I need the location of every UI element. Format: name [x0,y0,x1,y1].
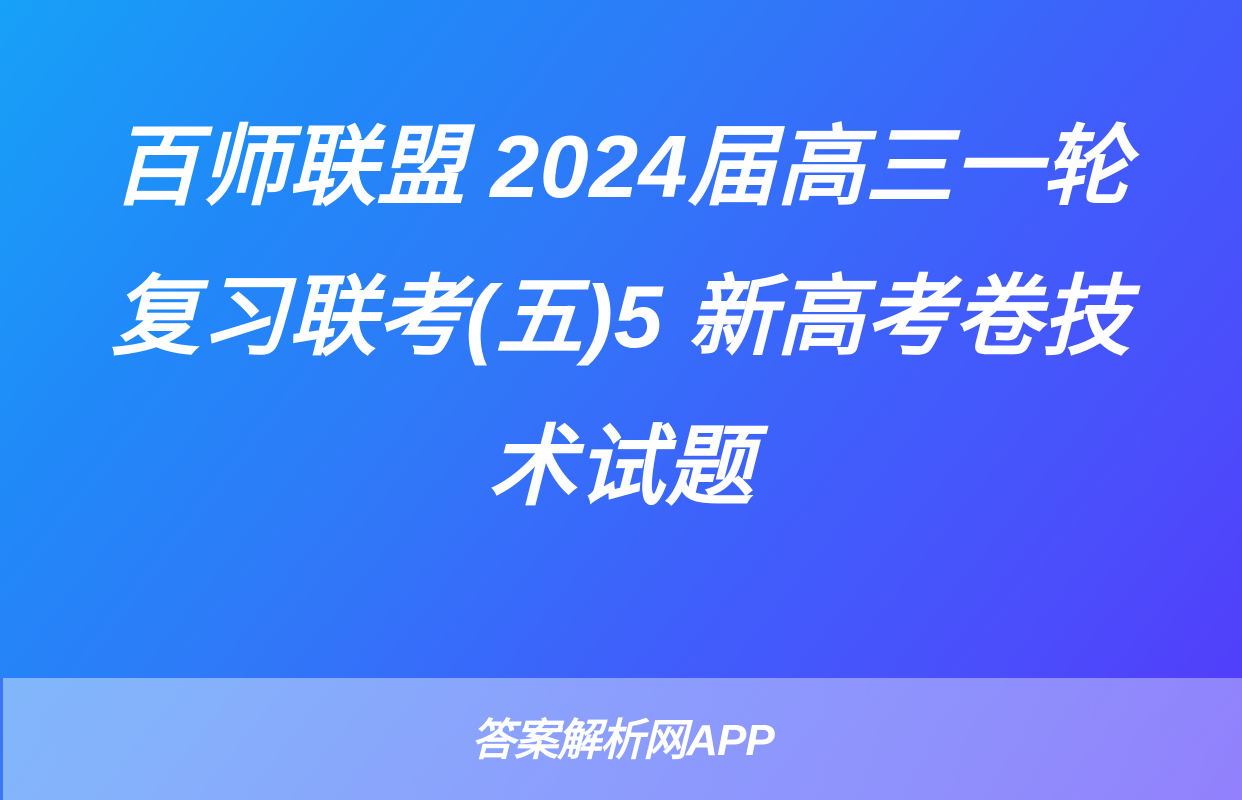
watermark-label: 答案解析网APP [471,719,773,763]
footer-watermark-band: 答案解析网APP [3,678,1242,800]
exam-paper-poster: 百师联盟 2024届高三一轮复习联考(五)5 新高考卷技术试题 答案解析网APP [0,0,1242,800]
page-title: 百师联盟 2024届高三一轮复习联考(五)5 新高考卷技术试题 [70,92,1172,542]
title-block: 百师联盟 2024届高三一轮复习联考(五)5 新高考卷技术试题 [0,0,1242,678]
